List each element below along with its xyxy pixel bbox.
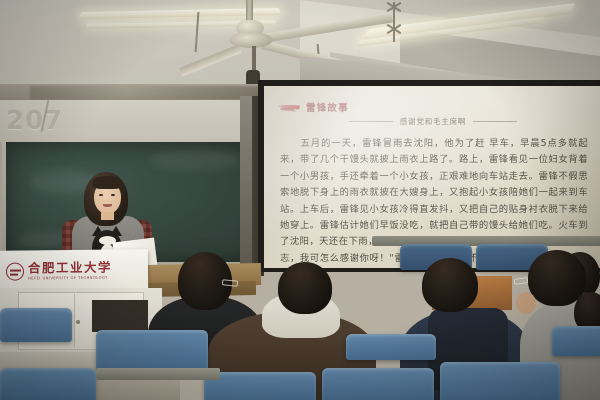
slide-title-row: 雷锋故事 (278, 100, 349, 114)
lecture-seat[interactable] (0, 308, 72, 342)
student-head (422, 258, 478, 312)
university-banner: 合肥工业大学 HEFEI UNIVERSITY OF TECHNOLOGY (0, 249, 148, 293)
slide-title: 雷锋故事 (306, 100, 349, 114)
presenter-mouth (103, 204, 112, 207)
lecture-seat[interactable] (346, 334, 436, 360)
subtitle-rule-left (349, 121, 393, 122)
lecture-seat[interactable] (0, 368, 96, 400)
student-hand (516, 292, 536, 314)
university-logo-icon (6, 263, 24, 281)
wall-stain (30, 86, 270, 100)
chalk-smudge (150, 150, 240, 170)
dark-equipment-box (92, 300, 148, 332)
university-name-cn: 合肥工业大学 (28, 261, 112, 276)
red-banner-icon (278, 102, 300, 113)
subtitle-rule-right (473, 121, 517, 122)
podium-door-seam (74, 294, 75, 348)
lecture-seat[interactable] (440, 362, 560, 400)
lecture-seat[interactable] (322, 368, 434, 400)
slide-subtitle-row: 感谢党和毛主席啊 (264, 116, 600, 127)
ceiling-fan-hub (229, 32, 273, 48)
lecture-seat[interactable] (552, 326, 600, 356)
classroom-photo: 207 雷锋故事 感谢党和毛主席啊 五月的一天，雷锋冒雨去沈阳，他为了赶 早车，… (0, 0, 600, 400)
lecture-seat[interactable] (96, 330, 208, 372)
room-number-label: 207 (6, 106, 63, 136)
student-head (528, 250, 586, 306)
presenter-eye (99, 194, 103, 196)
presenter-neck (101, 212, 114, 220)
university-name-en: HEFEI UNIVERSITY OF TECHNOLOGY (28, 275, 112, 282)
slide-subtitle: 感谢党和毛主席啊 (400, 116, 466, 127)
desk-row (96, 368, 220, 380)
student-head (278, 262, 332, 314)
presenter-bangs (92, 176, 123, 189)
eyeglasses-icon (514, 277, 529, 285)
presenter-eye (111, 194, 115, 196)
podium-door-knob[interactable] (76, 320, 80, 324)
lecture-seat[interactable] (204, 372, 316, 400)
